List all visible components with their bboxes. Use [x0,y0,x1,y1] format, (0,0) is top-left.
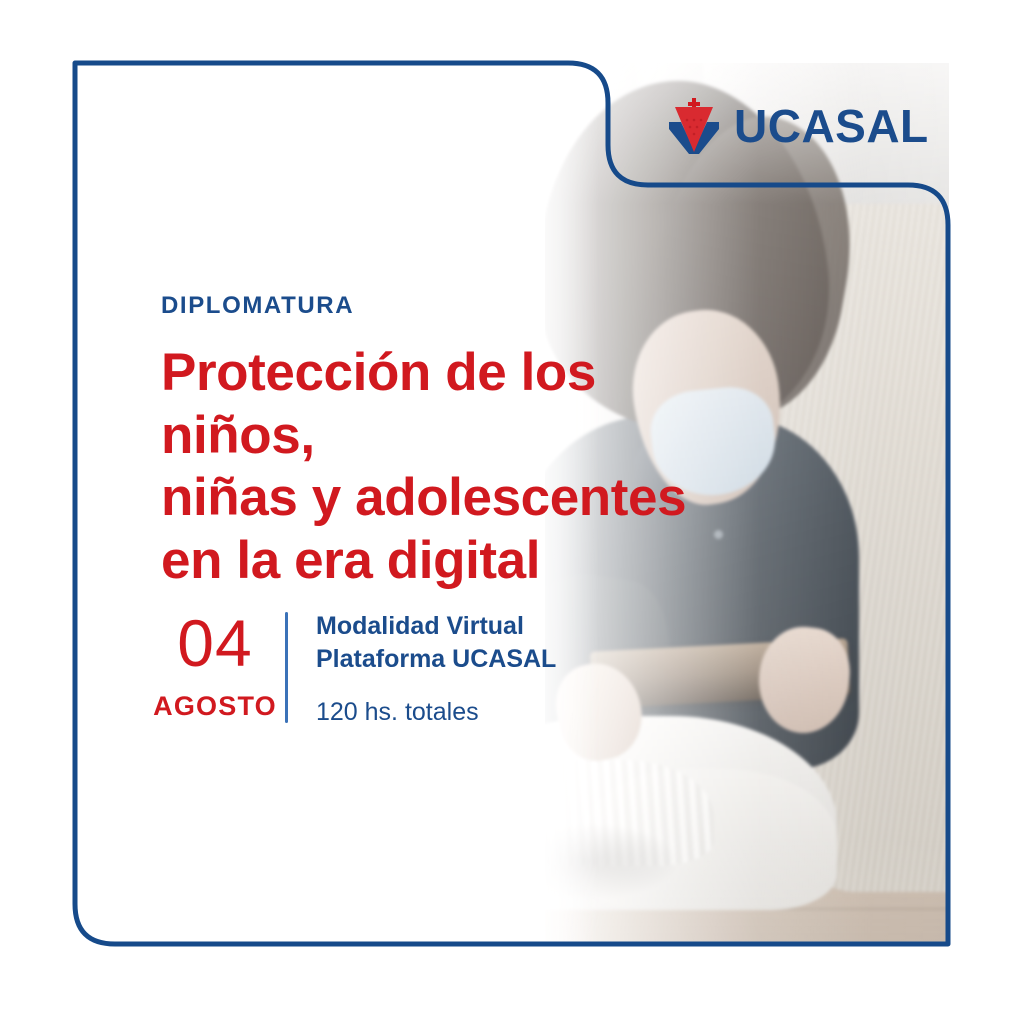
vertical-divider [285,612,288,723]
program-details-block: 04 AGOSTO Modalidad Virtual Plataforma U… [145,606,556,727]
ucasal-logo[interactable]: UCASAL [668,96,929,156]
ucasal-wordmark: UCASAL [734,103,929,149]
program-info: Modalidad Virtual Plataforma UCASAL 120 … [316,606,556,727]
start-date-month: AGOSTO [145,691,285,722]
program-title: Protección de los niños, niñas y adolesc… [161,342,761,592]
program-title-line-1: Protección de los niños, [161,342,761,467]
program-title-line-2: niñas y adolescentes [161,467,761,530]
start-date: 04 AGOSTO [145,606,285,727]
ucasal-shield-m-logo-icon [668,96,720,156]
total-hours: 120 hs. totales [316,698,556,727]
poster-canvas: UCASAL DIPLOMATURA Protección de los niñ… [0,0,1024,1024]
program-type-label: DIPLOMATURA [161,292,761,320]
modality-line-2: Plataforma UCASAL [316,643,556,676]
program-title-line-3: en la era digital [161,530,761,593]
poster-copy: DIPLOMATURA Protección de los niños, niñ… [161,292,761,592]
modality-line-1: Modalidad Virtual [316,610,556,643]
start-date-day: 04 [145,611,285,676]
